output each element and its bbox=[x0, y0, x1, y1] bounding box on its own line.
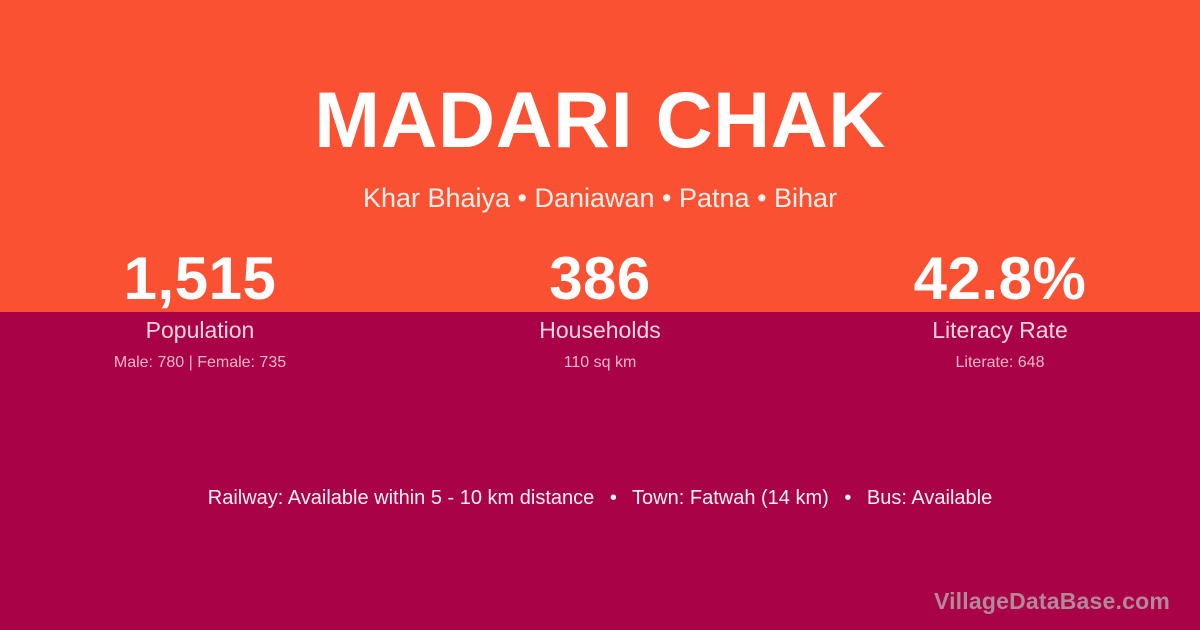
stat-value: 386 bbox=[400, 246, 800, 312]
breadcrumb: Khar Bhaiya • Daniawan • Patna • Bihar bbox=[0, 182, 1200, 214]
amenity-town: Town: Fatwah (14 km) bbox=[632, 487, 829, 509]
stat-population: 1,515 Population Male: 780 | Female: 735 bbox=[0, 246, 400, 372]
stat-label: Households bbox=[400, 317, 800, 344]
stat-value: 42.8% bbox=[800, 246, 1200, 312]
stat-sub: 110 sq km bbox=[400, 353, 800, 372]
stat-label: Population bbox=[0, 317, 400, 344]
stat-sub: Literate: 648 bbox=[800, 353, 1200, 372]
stat-literacy-rate: 42.8% Literacy Rate Literate: 648 bbox=[800, 246, 1200, 372]
page-title: MADARI CHAK bbox=[0, 80, 1200, 159]
amenity-railway: Railway: Available within 5 - 10 km dist… bbox=[208, 487, 594, 509]
stat-households: 386 Households 110 sq km bbox=[400, 246, 800, 372]
stat-label: Literacy Rate bbox=[800, 317, 1200, 344]
amenity-separator: • bbox=[600, 487, 627, 509]
amenities-line: Railway: Available within 5 - 10 km dist… bbox=[0, 485, 1200, 512]
stat-value: 1,515 bbox=[0, 246, 400, 312]
amenity-separator: • bbox=[834, 487, 861, 509]
stats-row: 1,515 Population Male: 780 | Female: 735… bbox=[0, 246, 1200, 372]
village-info-card: MADARI CHAK Khar Bhaiya • Daniawan • Pat… bbox=[0, 0, 1200, 630]
amenity-bus: Bus: Available bbox=[867, 487, 992, 509]
site-brand: VillageDataBase.com bbox=[934, 587, 1170, 615]
stat-sub: Male: 780 | Female: 735 bbox=[0, 353, 400, 372]
